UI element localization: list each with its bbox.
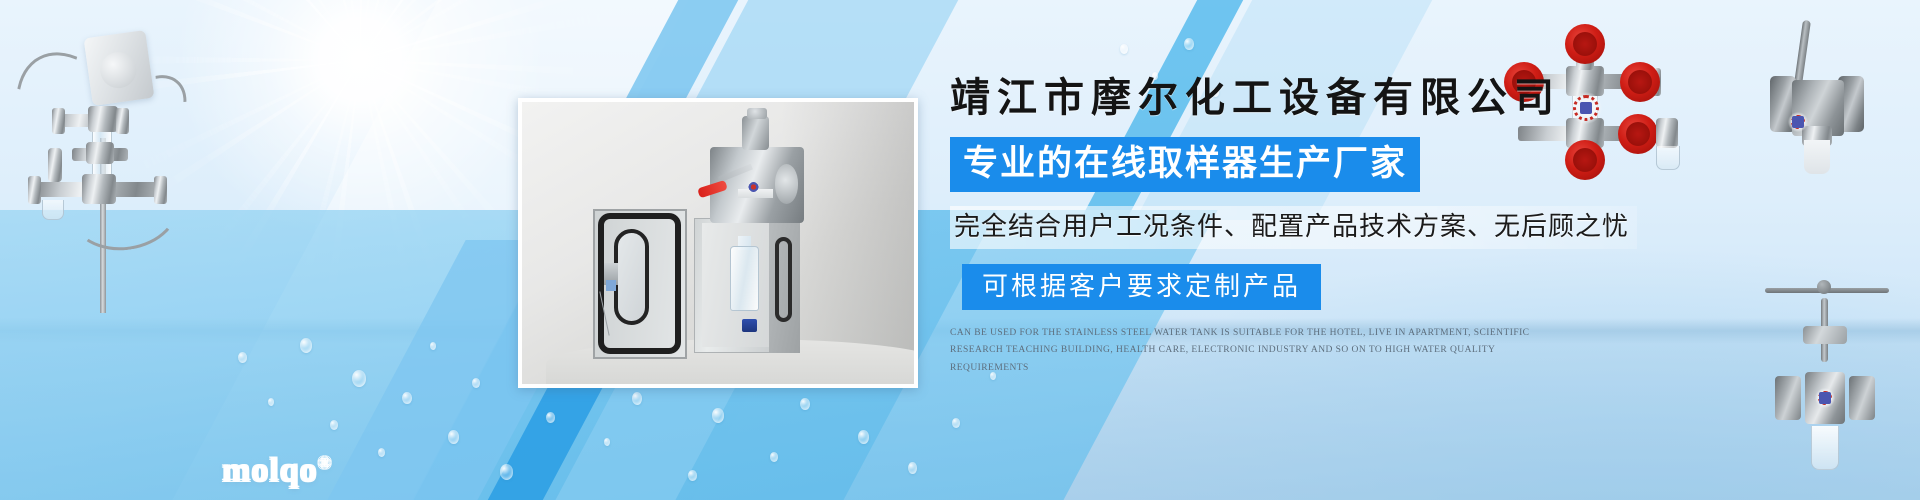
bottom-valve-flange-left [1775, 376, 1801, 420]
left-equipment-sampler [10, 18, 200, 308]
sampler-flange-lower-right [154, 176, 167, 204]
photo-valve-flange [775, 164, 799, 203]
bottom-valve-sample-glass [1811, 426, 1839, 470]
sampler-hub-lower [82, 174, 116, 204]
photo-blue-cap [742, 319, 758, 332]
photo-cabinet-handle [775, 237, 793, 322]
company-name: 靖江市摩尔化工设备有限公司 [950, 76, 1710, 120]
lever-valve-brand-seal [1788, 112, 1808, 132]
custom-product-badge: 可根据客户要求定制产品 [962, 264, 1321, 310]
photo-lock-tag [606, 280, 616, 291]
sampler-flange-lower-left [28, 176, 41, 204]
subline-text: 完全结合用户工况条件、配置产品技术方案、无后顾之忧 [954, 212, 1629, 241]
watermark-logo: molqo® [222, 452, 332, 490]
bottom-valve-knob [1817, 280, 1831, 294]
registered-trademark-icon: ® [318, 453, 332, 473]
sampler-hub-mid [86, 142, 114, 164]
subline-container: 完全结合用户工况条件、配置产品技术方案、无后顾之忧 [950, 206, 1637, 249]
product-photo [518, 98, 918, 388]
bottom-valve-flange-right [1849, 376, 1875, 420]
right-bottom-valve [1775, 280, 1905, 480]
bottom-valve-brand-seal [1815, 388, 1835, 408]
sampler-flange-upper-right [116, 108, 129, 134]
lever-valve-cup [1804, 140, 1830, 174]
english-description: CAN BE USED FOR THE STAINLESS STEEL WATE… [950, 325, 1570, 378]
headline-badge: 专业的在线取样器生产厂家 [950, 137, 1420, 192]
right-lever-valve [1740, 18, 1890, 188]
bottom-valve-bonnet [1803, 326, 1847, 344]
photo-valve-knob [747, 108, 767, 119]
sampler-relief-valve [48, 148, 62, 182]
product-banner: 靖江市摩尔化工设备有限公司 专业的在线取样器生产厂家 完全结合用户工况条件、配置… [0, 0, 1920, 500]
photo-door-window [614, 229, 649, 325]
sampler-beaker [42, 200, 64, 220]
sampler-flange-upper-left [52, 108, 65, 134]
sampler-hub-upper [88, 106, 118, 132]
banner-text-block: 靖江市摩尔化工设备有限公司 专业的在线取样器生产厂家 完全结合用户工况条件、配置… [950, 76, 1710, 377]
handwheel-top [1565, 24, 1605, 64]
photo-valve-stem [742, 116, 769, 150]
photo-sample-bottle [730, 246, 759, 311]
watermark-text: molqo [222, 452, 318, 489]
